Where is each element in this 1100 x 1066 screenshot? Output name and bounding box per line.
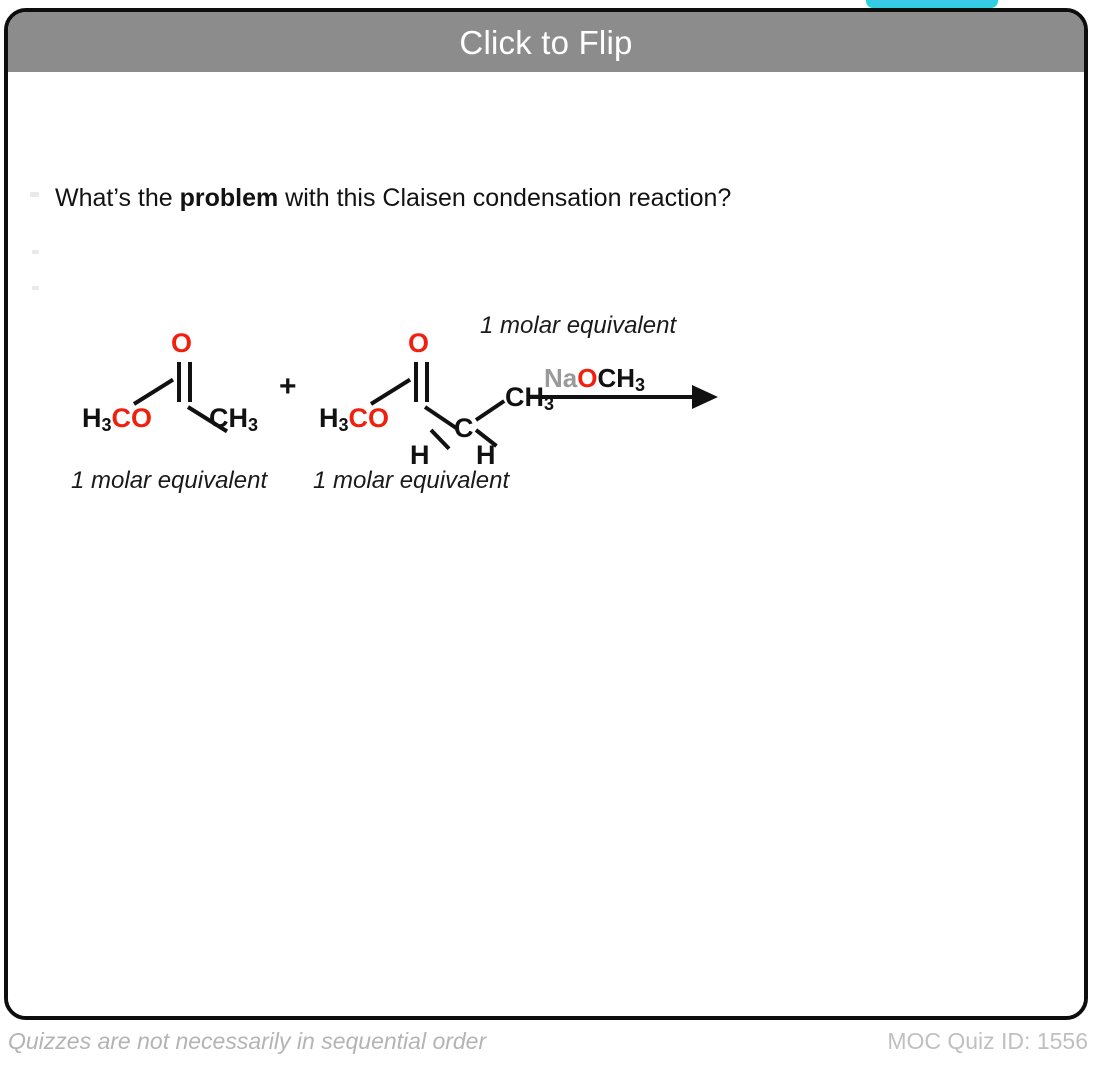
reaction-scheme: O H3CO CH3 + [8,222,1088,522]
reagent-na: Na [544,363,577,393]
card-header-title: Click to Flip [459,26,632,59]
reagent-methyl: CH [597,363,635,393]
reactant1-methoxy-label: H3CO [82,405,152,434]
question-suffix: with this Claisen condensation reaction? [278,184,731,212]
footer-quiz-id: MOC Quiz ID: 1556 [887,1028,1088,1055]
page-root: Click to Flip What’s the problem with th… [0,0,1100,1066]
flashcard[interactable]: Click to Flip What’s the problem with th… [4,8,1088,1020]
reaction-arrow-head [692,385,718,409]
reactant2-carbonyl-oxygen: O [408,330,429,357]
reactant2-double-bond-line-b [425,362,429,402]
reactant2-bond-c-to-alpha-c [424,405,458,430]
reactant1-methyl-label: CH3 [209,405,258,434]
reactant2-alpha-h-right: H [476,442,496,469]
reagent-methyl-sub: 3 [635,375,645,395]
card-header-flip-bar[interactable]: Click to Flip [8,12,1084,72]
question-text: What’s the problem with this Claisen con… [55,184,731,213]
reactant2-alpha-h-left: H [410,442,430,469]
teal-tab-inner [870,0,994,5]
reactant2-double-bond-line-a [414,362,418,402]
footer: Quizzes are not necessarily in sequentia… [0,1028,1100,1066]
plus-sign: + [279,370,297,404]
question-emphasis: problem [180,184,279,212]
reactant2-bond-ester-o-to-c [370,378,411,406]
reagent-equivalents: 1 molar equivalent [480,312,676,340]
reactant2-alpha-carbon-label: C [454,415,474,442]
reactant1-carbonyl-oxygen: O [171,330,192,357]
reactant2-methoxy-label: H3CO [319,405,389,434]
reactant2-equivalents: 1 molar equivalent [313,467,509,495]
reactant2-bond-alpha-c-to-methyl [475,399,505,421]
margin-artifact-1 [30,192,39,197]
reactant1-double-bond-line-a [177,362,181,402]
card-body: What’s the problem with this Claisen con… [8,72,1084,1016]
reactant1-equivalents: 1 molar equivalent [71,467,267,495]
question-prefix: What’s the [55,184,180,212]
footer-note: Quizzes are not necessarily in sequentia… [8,1028,486,1055]
reactant1-bond-ester-o-to-c [133,378,174,406]
reactant1-double-bond-line-b [188,362,192,402]
reagent-oxygen: O [577,363,597,393]
reagent-sodium-methoxide: NaOCH3 [544,365,645,394]
reactant2-bond-alpha-c-to-h-left [430,429,451,450]
reaction-arrow-shaft [529,395,694,399]
